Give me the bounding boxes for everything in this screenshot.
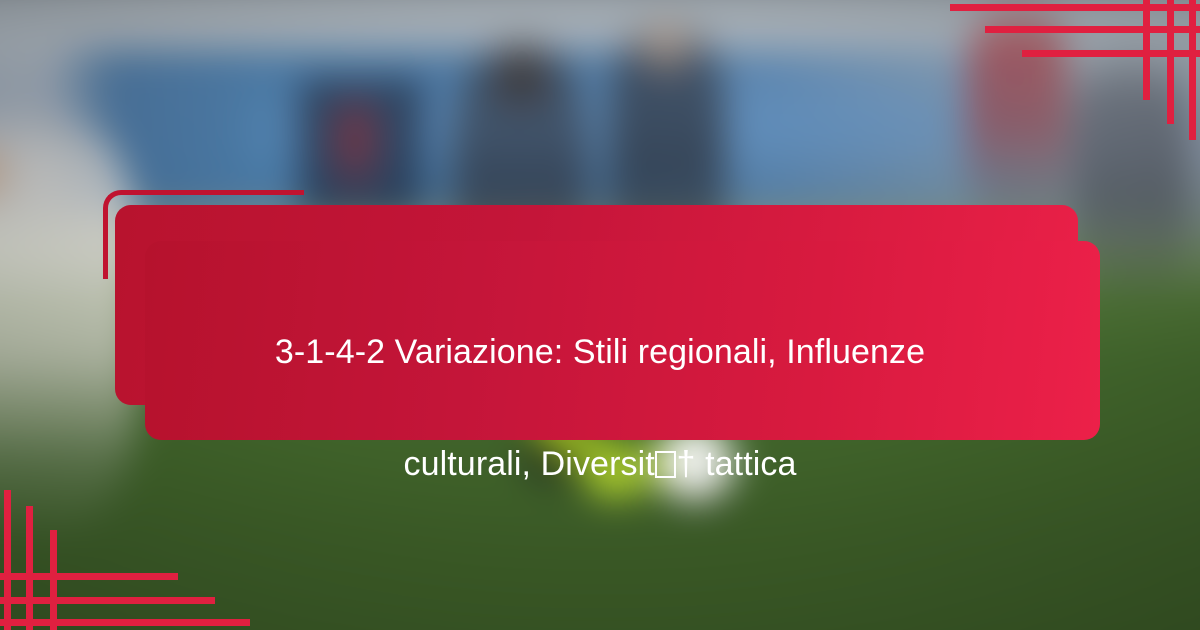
page-title: 3-1-4-2 Variazione: Stili regionali, Inf… — [150, 268, 1050, 492]
page-title-line-1: 3-1-4-2 Variazione: Stili regionali, Inf… — [275, 333, 925, 371]
page-title-line-2-after: † tattica — [677, 445, 797, 483]
social-card-canvas: 3-1-4-2 Variazione: Stili regionali, Inf… — [0, 0, 1200, 630]
page-title-line-2-before: culturali, Diversit — [404, 445, 655, 483]
missing-glyph-box-icon — [655, 451, 675, 478]
